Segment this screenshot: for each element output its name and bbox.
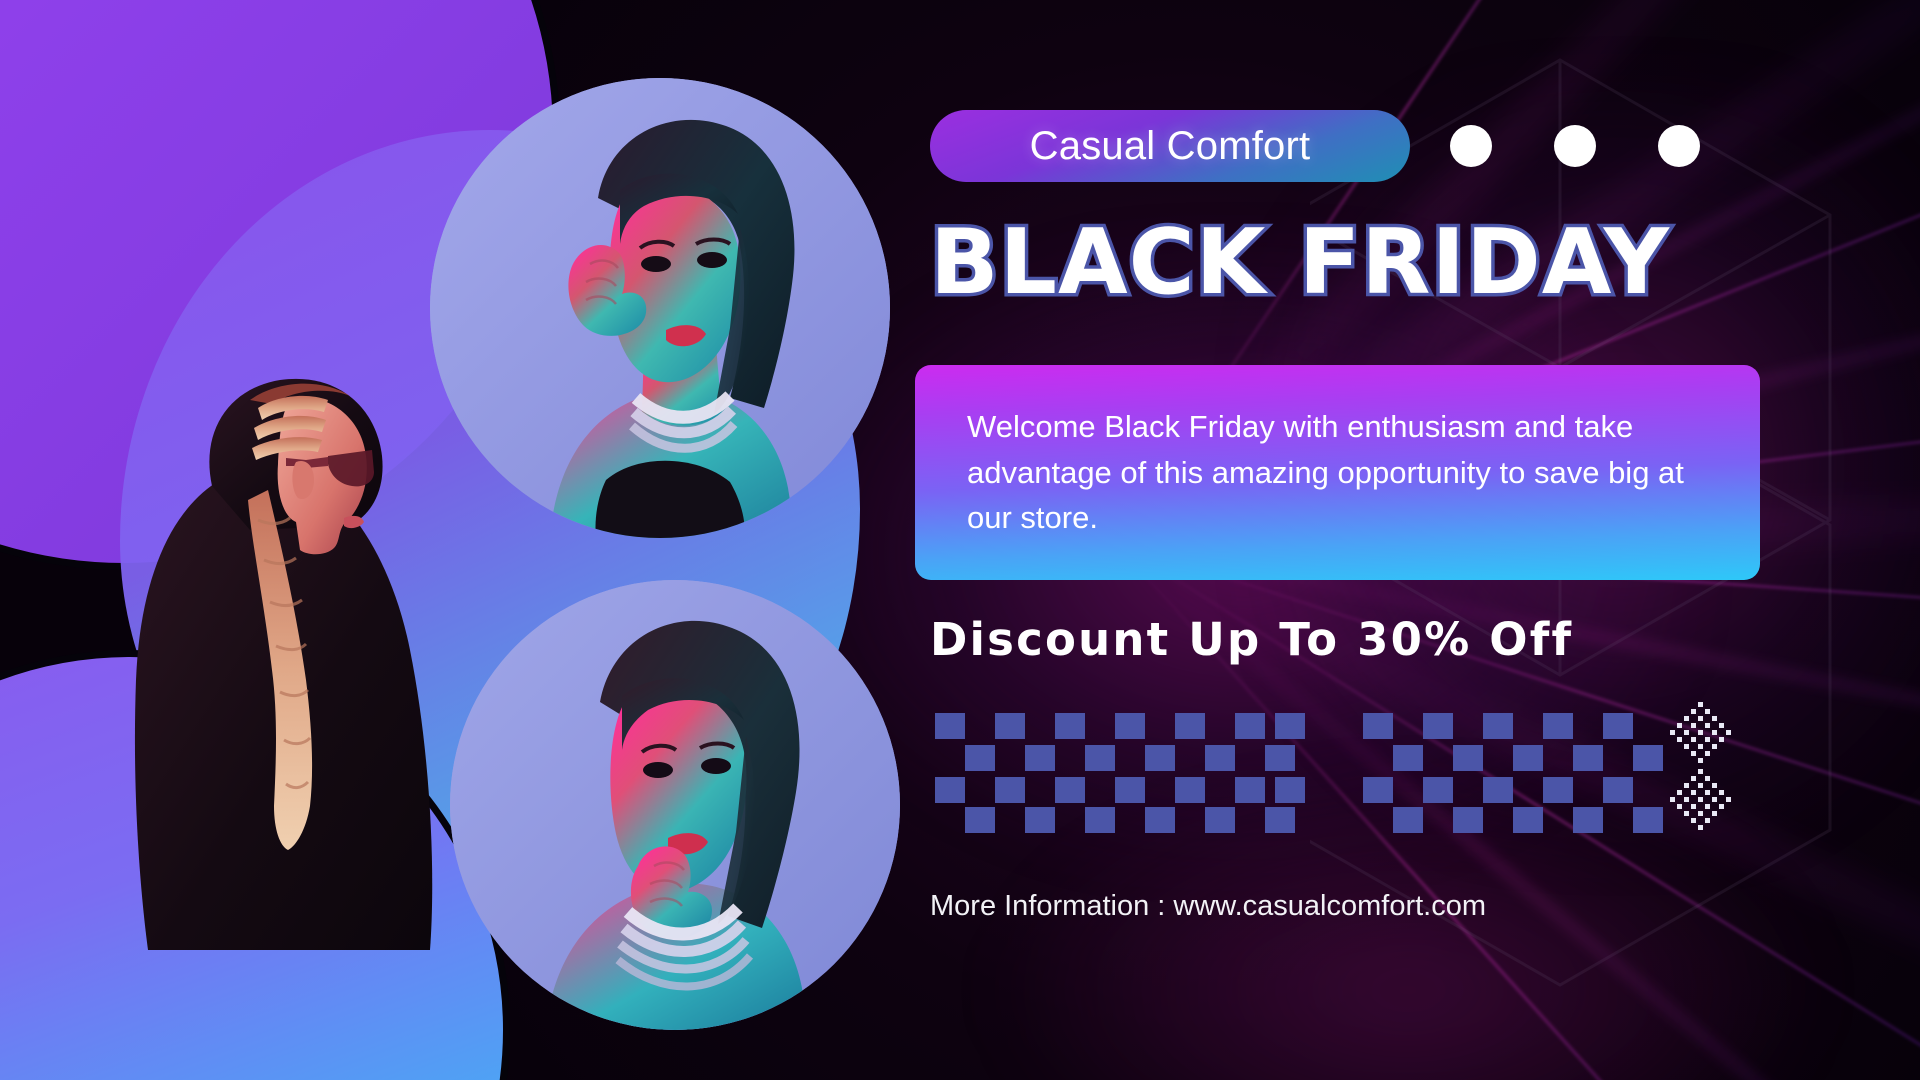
diamond-dot-motif: [1658, 700, 1744, 837]
chevron-motif-icon: [0, 0, 137, 212]
decor-dot: [1554, 125, 1596, 167]
decor-dot: [1450, 125, 1492, 167]
decor-dots-group: [1450, 125, 1700, 167]
description-text: Welcome Black Friday with enthusiasm and…: [967, 404, 1687, 542]
discount-headline: Discount Up To 30% Off: [930, 613, 1573, 666]
footer-more-information[interactable]: More Information : www.casualcomfort.com: [930, 890, 1486, 923]
model-photo-bottom: [450, 580, 900, 1030]
checker-block: [1363, 713, 1663, 833]
model-photo-top: [430, 78, 890, 538]
checker-block: [935, 713, 1305, 833]
content-column: Casual Comfort BLACK FRIDAY Welcome Blac…: [930, 0, 1760, 1080]
poster-canvas: Casual Comfort BLACK FRIDAY Welcome Blac…: [0, 0, 1920, 1080]
page-title: BLACK FRIDAY: [930, 218, 1760, 308]
description-panel: Welcome Black Friday with enthusiasm and…: [915, 365, 1760, 580]
brand-badge[interactable]: Casual Comfort: [930, 110, 1410, 182]
brand-badge-label: Casual Comfort: [1030, 124, 1311, 169]
checker-pattern-group: [935, 713, 1663, 833]
decor-dot: [1658, 125, 1700, 167]
